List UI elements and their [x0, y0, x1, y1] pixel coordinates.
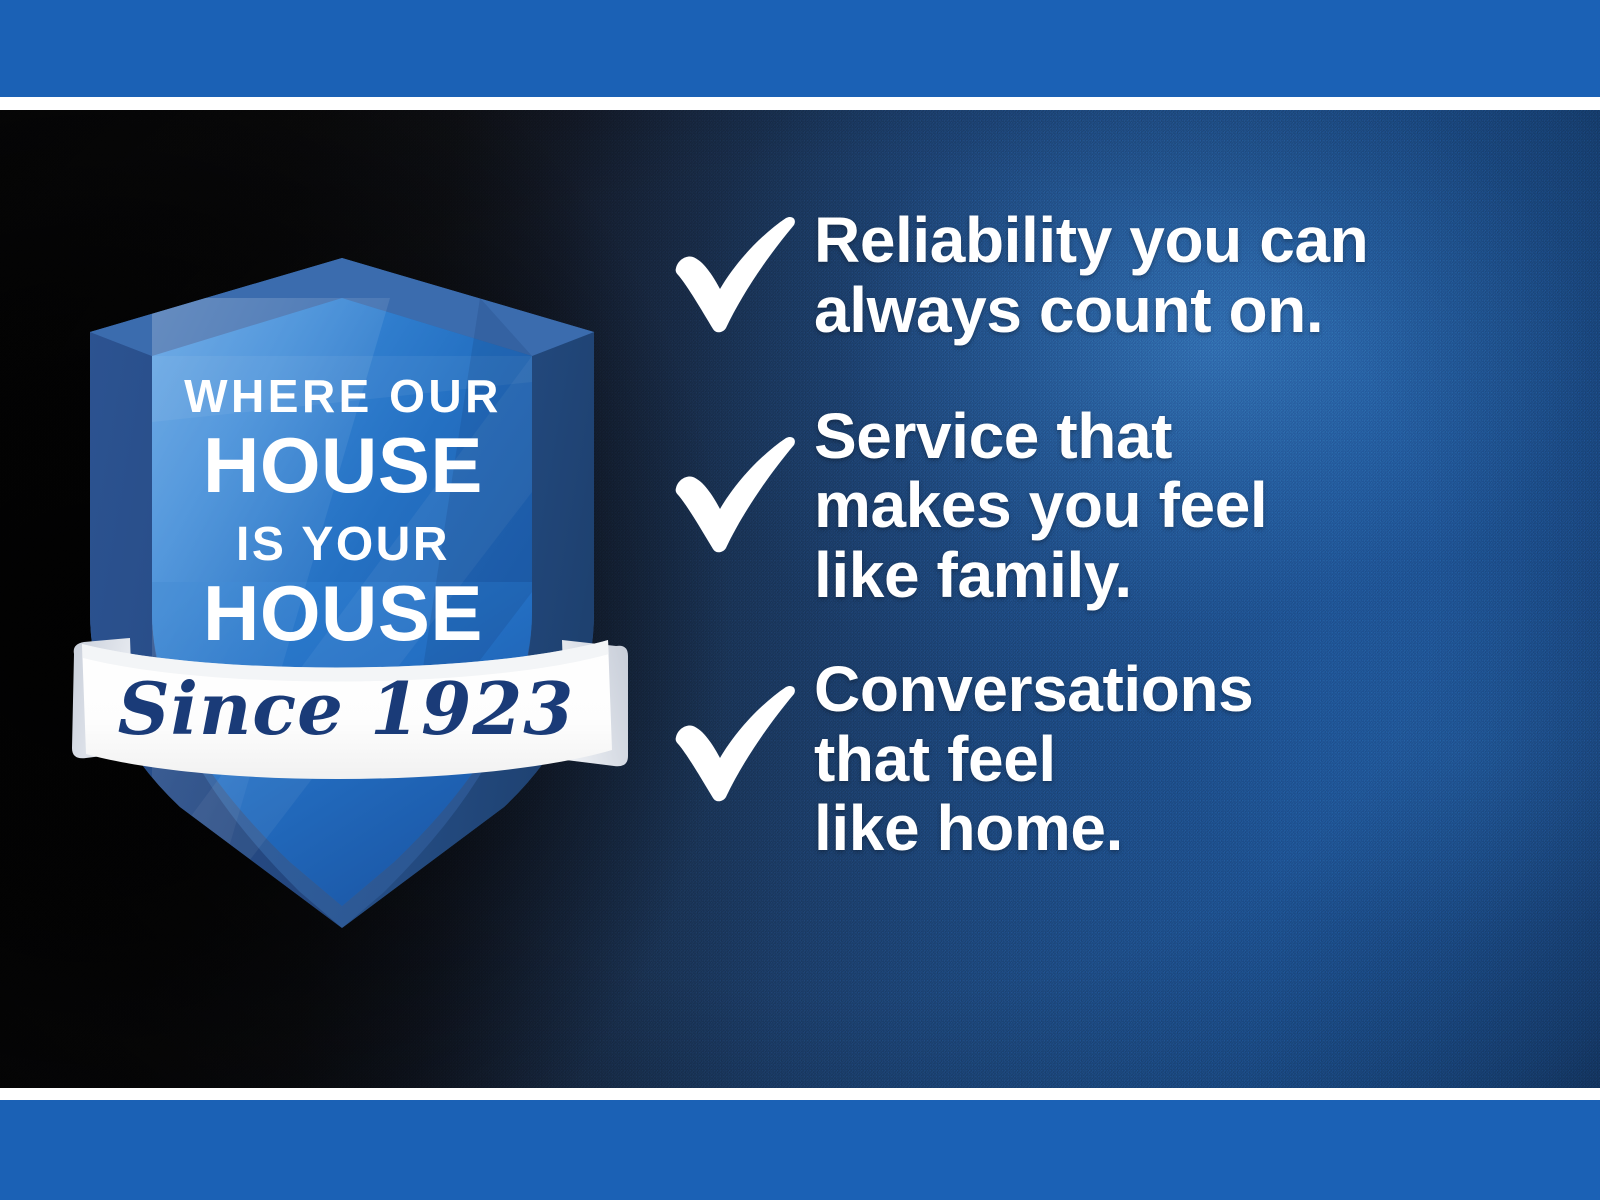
checkmark-icon — [668, 685, 800, 803]
top-brand-bar — [0, 0, 1600, 97]
list-item-text: Conversations that feel like home. — [814, 655, 1253, 864]
checkmark-icon — [668, 216, 800, 334]
shield-line-1: WHERE OUR — [184, 370, 502, 422]
top-white-divider — [0, 97, 1600, 110]
shield-line-2: HOUSE — [203, 421, 483, 509]
list-item-text: Service that makes you feel like family. — [814, 402, 1267, 611]
list-item: Reliability you can always count on. — [668, 206, 1548, 346]
list-item-text: Reliability you can always count on. — [814, 206, 1368, 346]
list-item: Service that makes you feel like family. — [668, 402, 1548, 611]
promo-graphic-canvas: WHERE OUR HOUSE IS YOUR HOUSE Since 1923 — [0, 0, 1600, 1200]
list-item: Conversations that feel like home. — [668, 655, 1548, 864]
ribbon-since-text: Since 1923 — [118, 666, 575, 751]
benefits-list: Reliability you can always count on. Ser… — [668, 206, 1548, 916]
shield-line-3: IS YOUR — [236, 518, 450, 571]
main-stage: WHERE OUR HOUSE IS YOUR HOUSE Since 1923 — [0, 110, 1600, 1088]
shield-badge: WHERE OUR HOUSE IS YOUR HOUSE Since 1923 — [60, 252, 630, 942]
bottom-white-divider — [0, 1088, 1600, 1100]
shield-line-4: HOUSE — [203, 569, 483, 657]
checkmark-icon — [668, 436, 800, 554]
bottom-brand-bar — [0, 1100, 1600, 1200]
